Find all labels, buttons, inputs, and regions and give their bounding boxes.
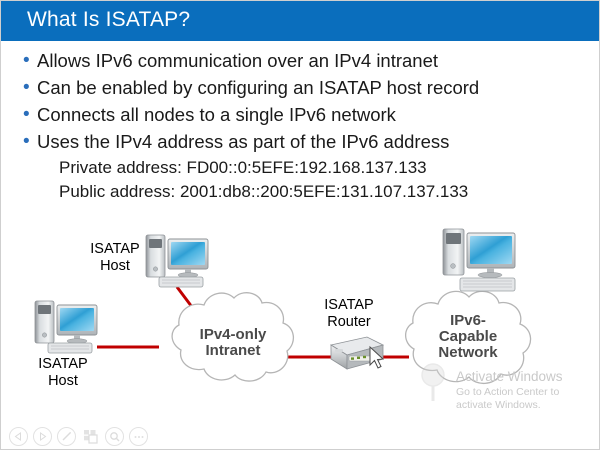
watermark-subtitle: Go to Action Center to activate Windows. (456, 386, 596, 412)
page-title: What Is ISATAP? (27, 8, 190, 32)
triangle-right-icon (38, 432, 47, 441)
bullet-text: Allows IPv6 communication over an IPv4 i… (37, 48, 438, 73)
magnifier-icon (109, 431, 121, 443)
next-slide-button[interactable] (33, 427, 52, 446)
pen-icon (61, 431, 72, 442)
private-address-line: Private address: FD00::0:5EFE:192.168.13… (59, 156, 583, 180)
bullet-marker-icon: • (23, 48, 37, 73)
all-slides-button[interactable] (81, 427, 100, 446)
label-isatap-host-left: ISATAP Host (29, 356, 97, 390)
slideshow-toolbar (9, 427, 148, 446)
bullet-text: Uses the IPv4 address as part of the IPv… (37, 129, 449, 154)
activate-windows-watermark: Activate Windows Go to Action Center to … (456, 369, 596, 412)
previous-slide-button[interactable] (9, 427, 28, 446)
triangle-left-icon (14, 432, 23, 441)
zoom-button[interactable] (105, 427, 124, 446)
label-cloud-ipv6-network: IPv6- Capable Network (413, 313, 523, 361)
bullet-text: Can be enabled by configuring an ISATAP … (37, 75, 479, 100)
label-isatap-router: ISATAP Router (313, 297, 385, 331)
public-address-line: Public address: 2001:db8::200:5EFE:131.1… (59, 180, 583, 204)
computer-ipv6-host-right (443, 229, 515, 291)
watermark-title: Activate Windows (456, 369, 596, 385)
computer-isatap-host-top (146, 235, 208, 287)
bullet-marker-icon: • (23, 129, 37, 154)
label-cloud-ipv4-intranet: IPv4-only Intranet (179, 327, 287, 359)
pen-tool-button[interactable] (57, 427, 76, 446)
grid-icon (83, 429, 98, 444)
list-item: • Allows IPv6 communication over an IPv4… (23, 48, 583, 73)
list-item: • Connects all nodes to a single IPv6 ne… (23, 102, 583, 127)
magnifier-watermark-icon (422, 364, 444, 401)
bullet-marker-icon: • (23, 102, 37, 127)
computer-isatap-host-left (35, 301, 97, 353)
presentation-slide: What Is ISATAP? • Allows IPv6 communicat… (0, 0, 600, 450)
list-item: • Can be enabled by configuring an ISATA… (23, 75, 583, 100)
label-isatap-host-top: ISATAP Host (81, 241, 149, 275)
bullet-list: • Allows IPv6 communication over an IPv4… (23, 48, 583, 204)
bullet-text: Connects all nodes to a single IPv6 netw… (37, 102, 396, 127)
list-item: • Uses the IPv4 address as part of the I… (23, 129, 583, 154)
bullet-marker-icon: • (23, 75, 37, 100)
ellipsis-icon (133, 434, 145, 440)
more-options-button[interactable] (129, 427, 148, 446)
slide-title-bar: What Is ISATAP? (1, 1, 600, 41)
